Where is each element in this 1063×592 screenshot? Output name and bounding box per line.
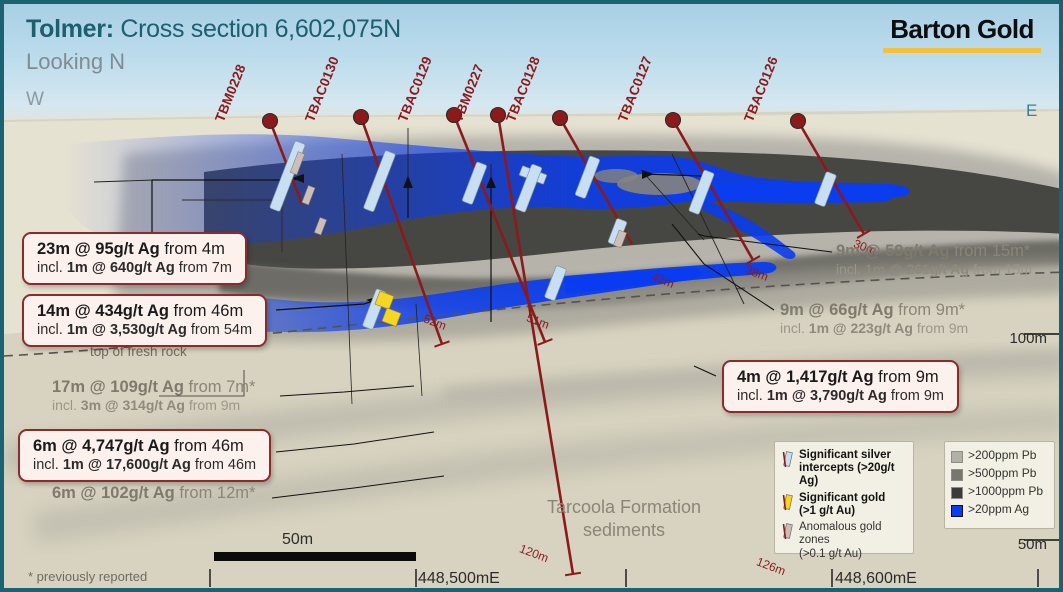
callout-incl-bold: 1m @ 3,790g/t Ag — [767, 388, 887, 404]
callout-incl-from: from 54m — [187, 322, 252, 338]
callout-line-secondary: incl. 1m @ 17,600g/t Ag from 46m — [33, 457, 256, 473]
depth-label-50m: 50m — [1018, 536, 1047, 553]
callout-incl-bold: 1m @ 640g/t Ag — [67, 260, 175, 276]
annotation-incl-from: from 9m — [913, 320, 968, 336]
legend-geochem-row: >500ppm Pb — [951, 467, 1048, 481]
legend-geochem-swatch — [951, 505, 963, 517]
annotation-incl-bold: 1m @ 261g/t Ag — [865, 261, 969, 277]
silver-intercept-swatch — [781, 451, 794, 473]
legend-geochem-label: >200ppm Pb — [968, 449, 1036, 463]
legend-symbol-label-line1: Significant gold — [799, 492, 885, 505]
annotation-interval-from: from 9m* — [894, 301, 966, 319]
annotation-interval-from: from 7m* — [184, 378, 256, 396]
legend-symbol-label-line2: (>0.1 g/t Au) — [799, 548, 907, 561]
annotation-incl-bold: 3m @ 314g/t Ag — [81, 397, 185, 413]
drill-collar-marker — [354, 110, 369, 125]
callout-line-secondary: incl. 1m @ 3,530g/t Ag from 54m — [37, 322, 252, 338]
formation-label-line2: sediments — [534, 519, 714, 542]
annotation-line-secondary: incl. 1m @ 223g/t Ag from 9m — [780, 320, 968, 336]
legend-symbol-label-line1: Anomalous gold zones — [799, 521, 907, 547]
annotation-interval-bold: 17m @ 109g/t Ag — [52, 378, 184, 396]
legend-symbol-row: Anomalous gold zones(>0.1 g/t Au) — [781, 521, 907, 561]
easting-label-2: 448,600mE — [835, 570, 917, 588]
intercept-annotation: 6m @ 102g/t Ag from 12m* — [52, 484, 255, 503]
cross-section-figure: Tolmer: Cross section 6,602,075N Looking… — [0, 0, 1063, 592]
legend-geochem-label: >500ppm Pb — [968, 467, 1036, 481]
legend-symbol-label-line2: intercepts (>20g/t Ag) — [799, 462, 907, 488]
callout-line-secondary: incl. 1m @ 640g/t Ag from 7m — [37, 260, 232, 276]
annotation-incl-from: from 9m — [185, 397, 240, 413]
scale-bar-label: 50m — [282, 531, 313, 549]
annotation-incl-from: from 15m — [969, 261, 1032, 277]
callout-incl-prefix: incl. — [33, 457, 63, 473]
drill-collar-marker — [791, 114, 806, 129]
intercept-annotation: 17m @ 109g/t Ag from 7m*incl. 3m @ 314g/… — [52, 378, 255, 413]
intercept-annotation: 9m @ 66g/t Ag from 9m*incl. 1m @ 223g/t … — [780, 301, 968, 336]
legend-geochem-row: >200ppm Pb — [951, 449, 1048, 463]
footnote-previously-reported: * previously reported — [28, 569, 147, 584]
annotation-incl-prefix: incl. — [52, 397, 81, 413]
page-title-bold: Tolmer: — [26, 15, 114, 43]
intercept-annotation: 9m @ 59g/t Ag from 15m*incl. 1m @ 261g/t… — [836, 242, 1032, 277]
page-title: Tolmer: Cross section 6,602,075N — [26, 15, 401, 44]
annotation-line-secondary: incl. 1m @ 261g/t Ag from 15m — [836, 261, 1032, 277]
easting-label-1: 448,500mE — [418, 570, 500, 588]
legend-symbol-label: Significant silverintercepts (>20g/t Ag) — [799, 449, 907, 489]
callout-incl-prefix: incl. — [37, 322, 67, 338]
company-logo-text: Barton Gold — [883, 14, 1041, 45]
callout-line-primary: 23m @ 95g/t Ag from 4m — [37, 240, 232, 259]
legend-symbol-row: Significant gold(>1 g/t Au) — [781, 492, 907, 518]
legend-symbol-label-line2: (>1 g/t Au) — [799, 505, 885, 518]
formation-label-line1: Tarcoola Formation — [534, 496, 714, 519]
callout-incl-from: from 9m — [887, 388, 944, 404]
intercept-callout: 23m @ 95g/t Ag from 4mincl. 1m @ 640g/t … — [22, 232, 247, 285]
gold-intercept-swatch — [781, 494, 794, 516]
depth-label-100m: 100m — [1009, 330, 1047, 347]
callout-interval-bold: 14m @ 434g/t Ag — [37, 302, 169, 320]
annotation-interval-bold: 6m @ 102g/t Ag — [52, 484, 175, 502]
callout-line-secondary: incl. 1m @ 3,790g/t Ag from 9m — [737, 388, 944, 404]
callout-line-primary: 14m @ 434g/t Ag from 46m — [37, 302, 252, 321]
drill-collar-marker — [263, 114, 278, 129]
legend-geochem-row: >1000ppm Pb — [951, 485, 1048, 499]
legend-symbol-label: Anomalous gold zones(>0.1 g/t Au) — [799, 521, 907, 561]
callout-incl-bold: 1m @ 3,530g/t Ag — [67, 322, 187, 338]
callout-incl-prefix: incl. — [737, 388, 767, 404]
callout-line-primary: 6m @ 4,747g/t Ag from 46m — [33, 437, 256, 456]
annotation-interval-from: from 15m* — [950, 242, 1031, 260]
legend-symbol-label-line1: Significant silver — [799, 449, 907, 462]
legend-geochemistry: >200ppm Pb>500ppm Pb>1000ppm Pb>20ppm Ag — [944, 441, 1055, 529]
legend-geochem-label: >20ppm Ag — [968, 503, 1029, 517]
legend-symbol-label: Significant gold(>1 g/t Au) — [799, 492, 885, 518]
callout-interval-bold: 6m @ 4,747g/t Ag — [33, 437, 170, 455]
callout-interval-from: from 4m — [160, 240, 225, 258]
east-direction-label: E — [1026, 101, 1037, 121]
formation-label: Tarcoola Formation sediments — [534, 496, 714, 541]
legend-geochem-swatch — [951, 451, 963, 463]
annotation-line-primary: 17m @ 109g/t Ag from 7m* — [52, 378, 255, 397]
legend-geochem-row: >20ppm Ag — [951, 503, 1048, 517]
callout-incl-from: from 7m — [175, 260, 232, 276]
callout-line-primary: 4m @ 1,417g/t Ag from 9m — [737, 368, 944, 387]
annotation-interval-bold: 9m @ 66g/t Ag — [780, 301, 894, 319]
drill-collar-marker — [553, 111, 568, 126]
west-direction-label: W — [26, 89, 44, 111]
annotation-line-primary: 9m @ 66g/t Ag from 9m* — [780, 301, 968, 320]
annotation-line-secondary: incl. 3m @ 314g/t Ag from 9m — [52, 397, 255, 413]
anomalous-gold-swatch — [781, 523, 794, 545]
annotation-incl-prefix: incl. — [836, 261, 865, 277]
scale-bar — [214, 552, 416, 561]
annotation-incl-prefix: incl. — [780, 320, 809, 336]
callout-interval-bold: 23m @ 95g/t Ag — [37, 240, 160, 258]
callout-incl-from: from 46m — [191, 457, 256, 473]
page-subtitle: Looking N — [26, 49, 125, 75]
annotation-interval-bold: 9m @ 59g/t Ag — [836, 242, 950, 260]
annotation-incl-bold: 1m @ 223g/t Ag — [809, 320, 913, 336]
intercept-callout: 4m @ 1,417g/t Ag from 9mincl. 1m @ 3,790… — [722, 360, 959, 413]
callout-incl-bold: 1m @ 17,600g/t Ag — [63, 457, 191, 473]
annotation-line-primary: 6m @ 102g/t Ag from 12m* — [52, 484, 255, 503]
annotation-interval-from: from 12m* — [175, 484, 256, 502]
company-logo: Barton Gold — [883, 14, 1041, 53]
legend-symbol-row: Significant silverintercepts (>20g/t Ag) — [781, 449, 907, 489]
page-title-rest: Cross section 6,602,075N — [114, 15, 401, 43]
callout-interval-bold: 4m @ 1,417g/t Ag — [737, 368, 874, 386]
callout-interval-from: from 9m — [874, 368, 939, 386]
annotation-line-primary: 9m @ 59g/t Ag from 15m* — [836, 242, 1032, 261]
legend-geochem-label: >1000ppm Pb — [968, 485, 1043, 499]
intercept-callout: 6m @ 4,747g/t Ag from 46mincl. 1m @ 17,6… — [18, 429, 271, 482]
callout-interval-from: from 46m — [169, 302, 243, 320]
drill-collar-marker — [666, 113, 681, 128]
callout-incl-prefix: incl. — [37, 260, 67, 276]
legend-symbols: Significant silverintercepts (>20g/t Ag)… — [774, 441, 914, 554]
company-logo-underline — [883, 48, 1041, 53]
legend-geochem-swatch — [951, 487, 963, 499]
callout-interval-from: from 46m — [170, 437, 244, 455]
intercept-callout: 14m @ 434g/t Ag from 46mincl. 1m @ 3,530… — [22, 294, 267, 347]
legend-geochem-swatch — [951, 469, 963, 481]
